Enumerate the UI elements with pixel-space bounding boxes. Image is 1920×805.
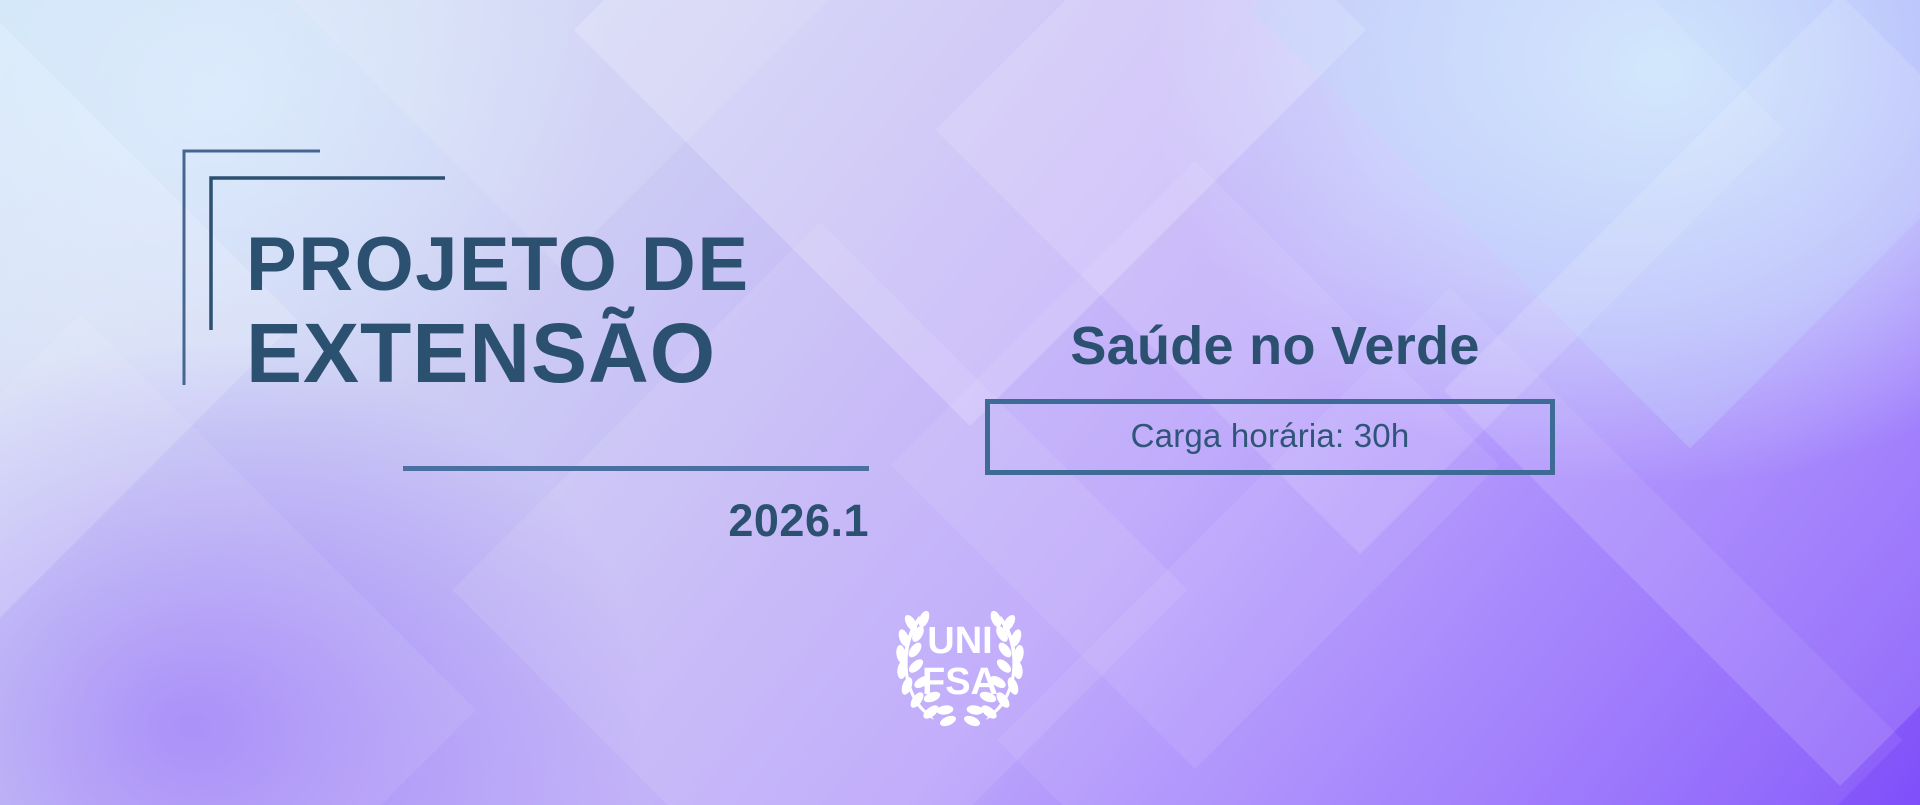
project-info: Saúde no Verde Carga horária: 30h: [985, 315, 1565, 475]
program-heading: PROJETO DE EXTENSÃO: [246, 228, 886, 395]
logo-line-2: FSA: [922, 661, 998, 703]
extension-project-banner: PROJETO DE EXTENSÃO 2026.1 Saúde no Verd…: [0, 0, 1920, 805]
program-line-2: EXTENSÃO: [246, 312, 886, 394]
project-title: Saúde no Verde: [985, 315, 1565, 377]
unifsa-logo: UNI FSA: [886, 598, 1034, 728]
workload-text: Carga horária: 30h: [1131, 417, 1410, 454]
program-line-1: PROJETO DE: [246, 228, 886, 302]
logo-line-1: UNI: [927, 620, 992, 662]
workload-box: Carga horária: 30h: [985, 399, 1555, 475]
title-underline-rule: [403, 466, 869, 471]
background-glow-bottom-left: [0, 345, 640, 805]
edition-year: 2026.1: [246, 495, 869, 547]
